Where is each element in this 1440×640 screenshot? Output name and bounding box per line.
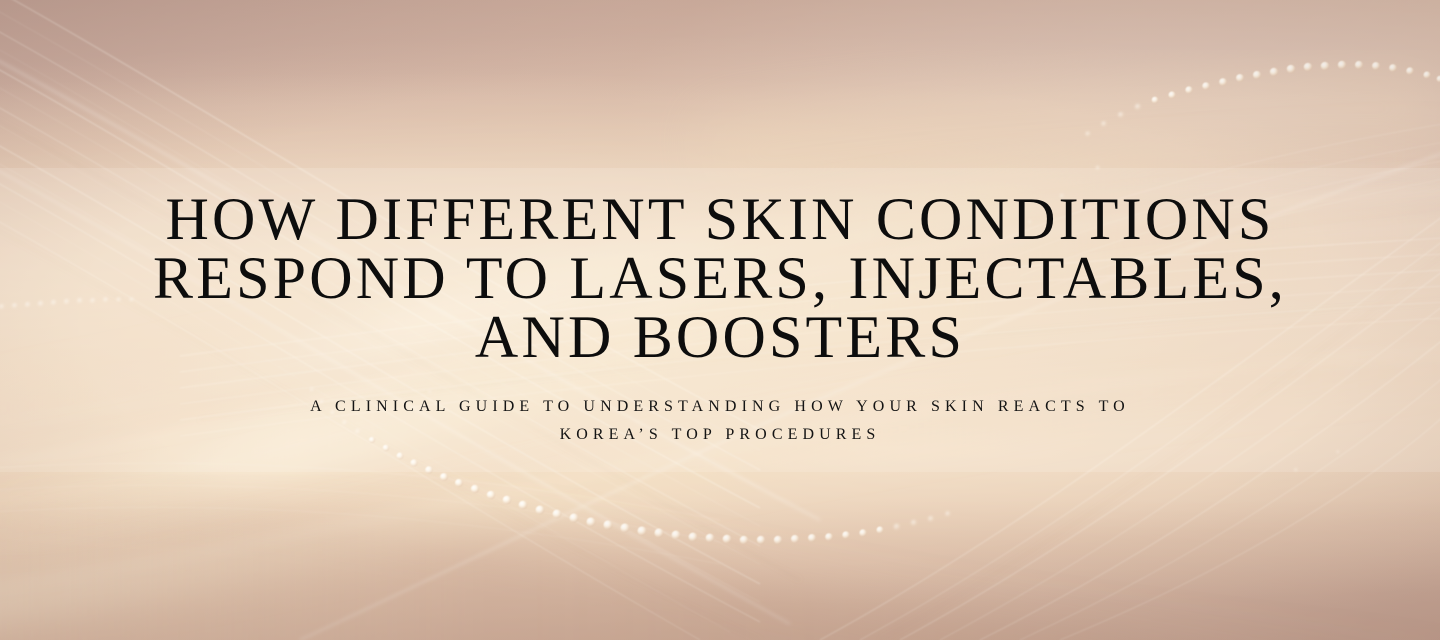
page-title-line-1: How Different Skin Conditions xyxy=(60,190,1380,249)
hero-banner: How Different Skin Conditions Respond to… xyxy=(0,0,1440,640)
page-subtitle-line-2: Korea’s top procedures xyxy=(130,421,1310,449)
page-title-line-3: and Boosters xyxy=(60,308,1380,367)
page-title-line-2: Respond to Lasers, Injectables, xyxy=(60,249,1380,308)
banner-content: How Different Skin Conditions Respond to… xyxy=(0,190,1440,449)
page-subtitle-line-1: A clinical guide to understanding how yo… xyxy=(130,393,1310,421)
page-subtitle: A clinical guide to understanding how yo… xyxy=(130,393,1310,449)
page-title: How Different Skin Conditions Respond to… xyxy=(0,190,1440,367)
